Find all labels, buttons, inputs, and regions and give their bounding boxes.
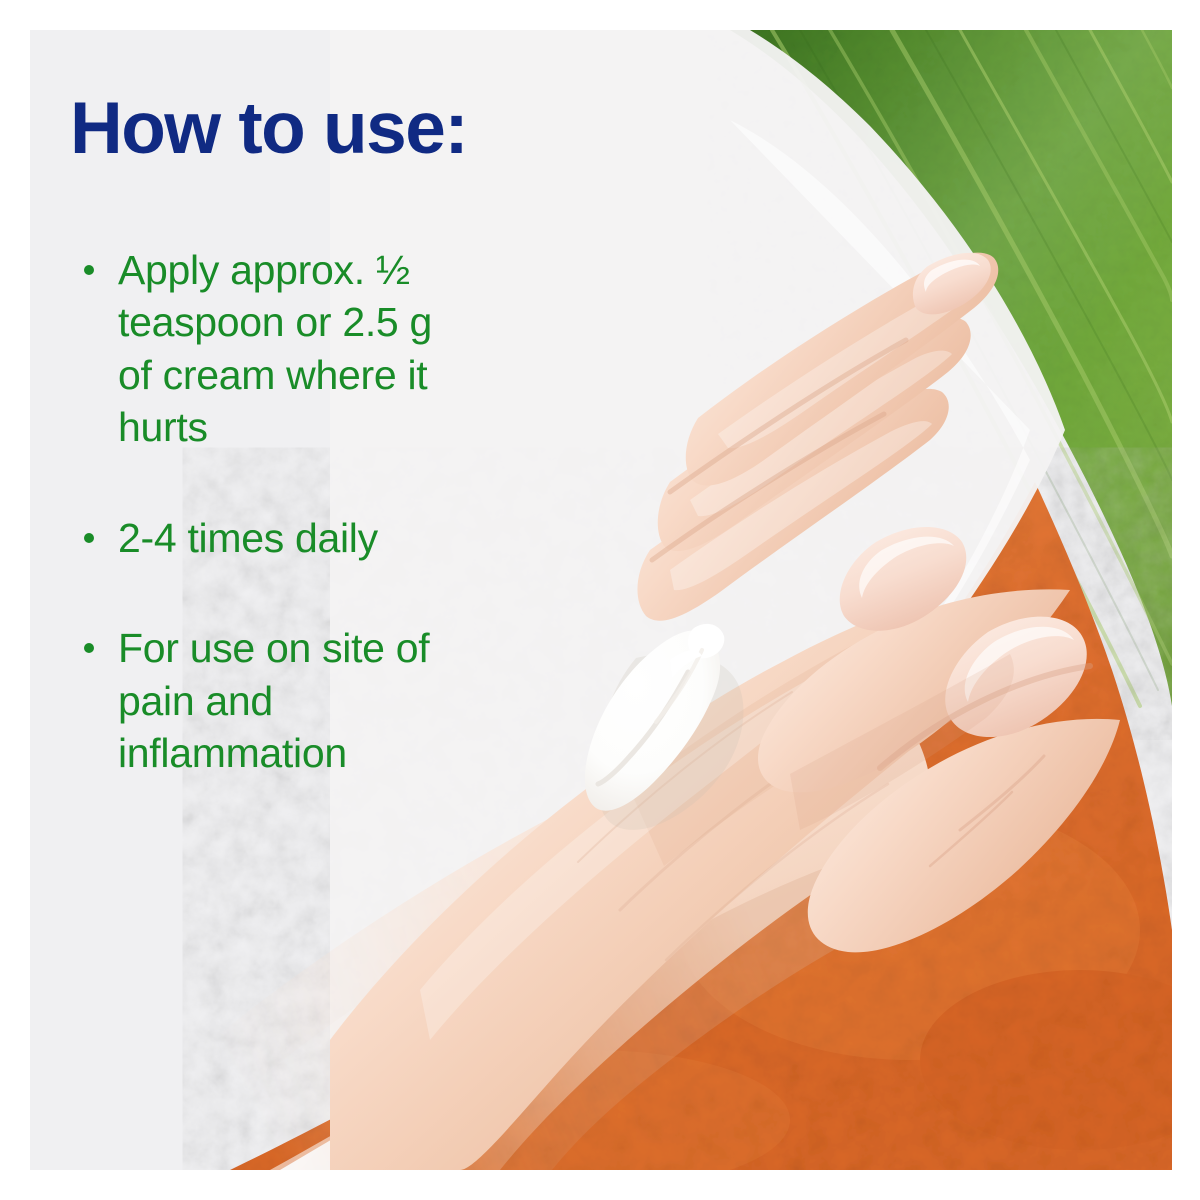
list-item: Apply approx. ½ teaspoon or 2.5 g of cre… [70,244,470,454]
list-item-label: 2-4 times daily [118,512,470,564]
bullet-dot-icon [84,265,94,275]
list-item-label: For use on site of pain and inflammation [118,622,470,779]
infographic-canvas: How to use: Apply approx. ½ teaspoon or … [0,0,1200,1200]
text-column: How to use: Apply approx. ½ teaspoon or … [70,30,490,1170]
bullet-dot-icon [84,533,94,543]
page-title: How to use: [70,92,467,165]
content-panel: How to use: Apply approx. ½ teaspoon or … [30,30,1172,1170]
instruction-list: Apply approx. ½ teaspoon or 2.5 g of cre… [70,244,470,780]
bullet-dot-icon [84,643,94,653]
list-item: 2-4 times daily [70,512,470,564]
list-item: For use on site of pain and inflammation [70,622,470,779]
list-item-label: Apply approx. ½ teaspoon or 2.5 g of cre… [118,244,470,454]
